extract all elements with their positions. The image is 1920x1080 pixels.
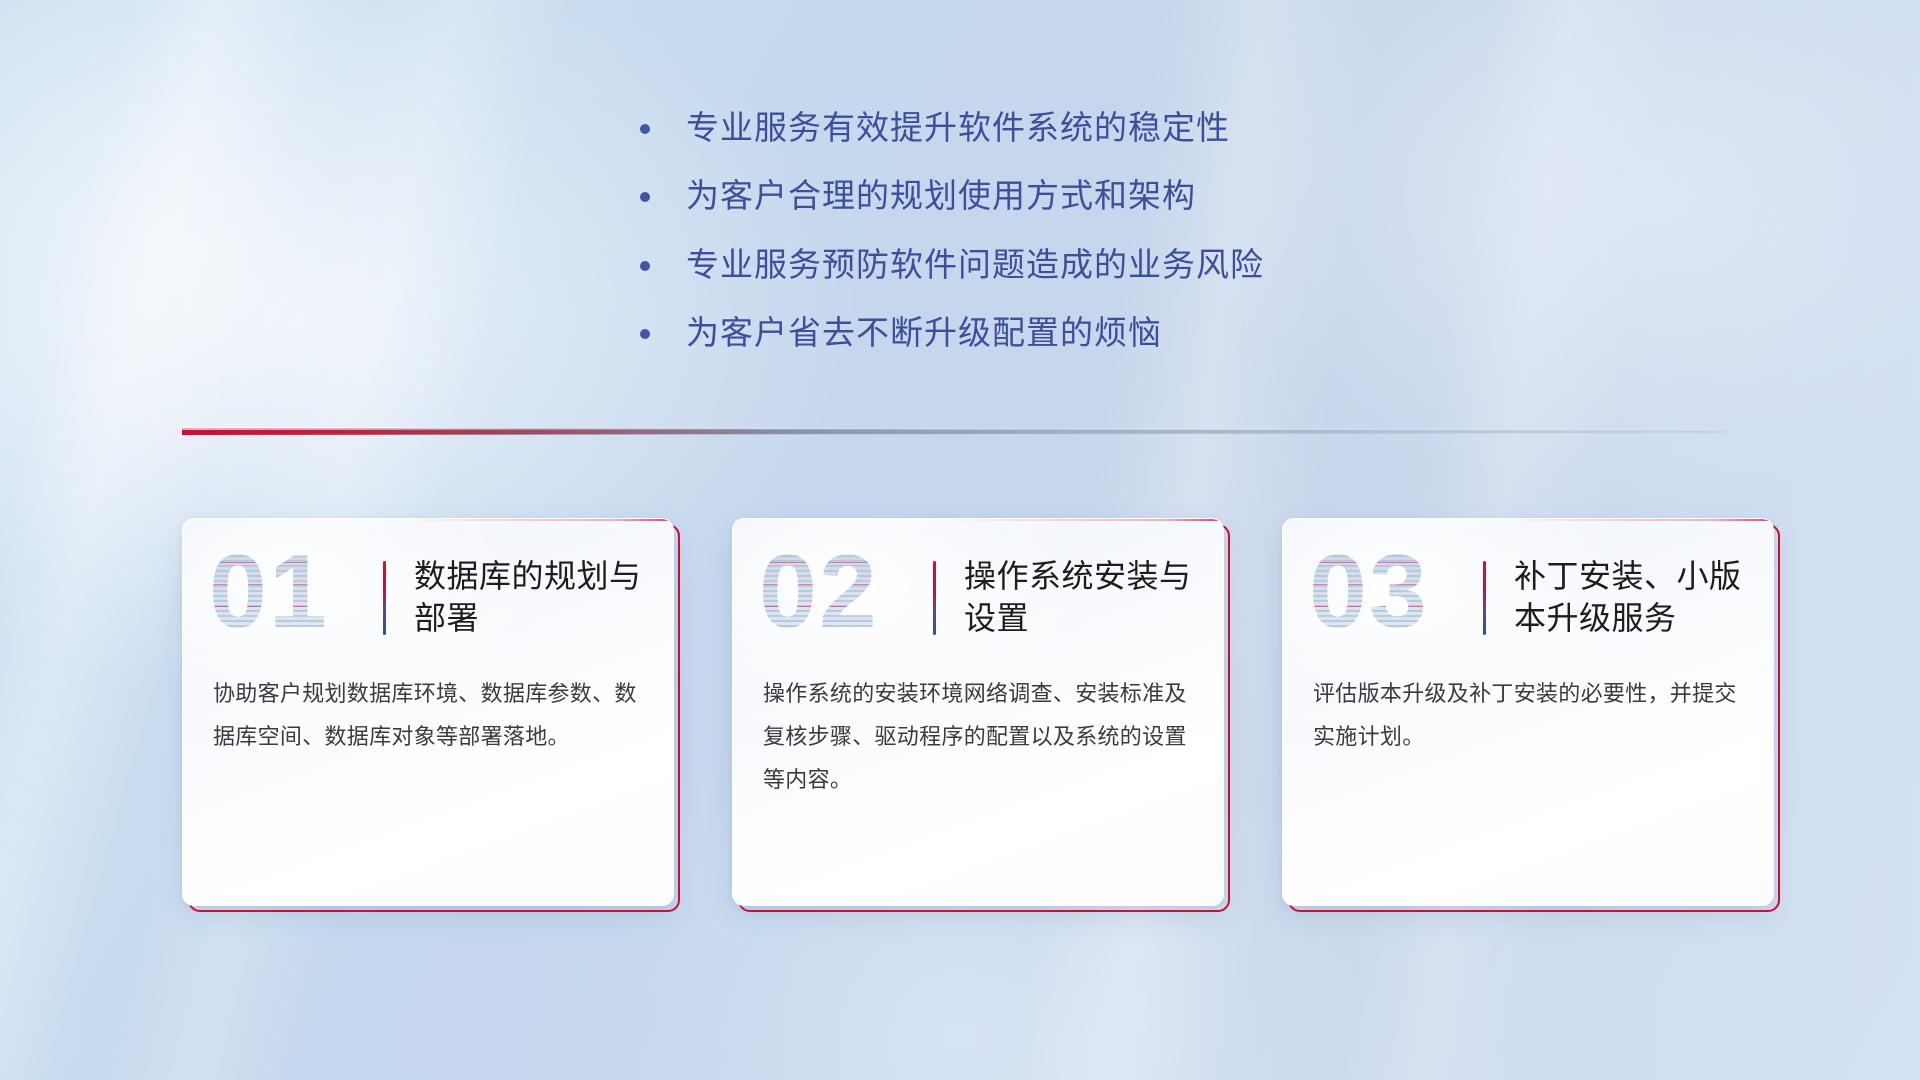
bullet-dot-icon (640, 124, 650, 134)
card-title-rule (933, 561, 936, 635)
service-card-02[interactable]: 02 02 操作系统安装与设置 操作系统的安装环境网络调查、安装标准及复核步骤、… (732, 518, 1224, 906)
divider-highlight (182, 427, 1727, 430)
card-number-watermark: 03 03 (1309, 546, 1477, 650)
card-title-rule (383, 561, 386, 635)
slide-canvas: 专业服务有效提升软件系统的稳定性 为客户合理的规划使用方式和架构 专业服务预防软… (0, 0, 1920, 1080)
card-number-watermark: 02 02 (759, 546, 927, 650)
bullet-dot-icon (640, 329, 650, 339)
benefits-bullet-list: 专业服务有效提升软件系统的稳定性 为客户合理的规划使用方式和架构 专业服务预防软… (640, 108, 1400, 381)
card-number-red-tint: 02 (759, 546, 879, 644)
card-surface: 03 03 补丁安装、小版本升级服务 评估版本升级及补丁安装的必要性，并提交实施… (1282, 518, 1774, 906)
bullet-item: 为客户省去不断升级配置的烦恼 (640, 313, 1400, 353)
card-body-text: 评估版本升级及补丁安装的必要性，并提交实施计划。 (1283, 647, 1773, 759)
bullet-item: 为客户合理的规划使用方式和架构 (640, 176, 1400, 216)
bullet-text: 专业服务有效提升软件系统的稳定性 (686, 108, 1230, 148)
service-card-row: 01 01 数据库的规划与部署 协助客户规划数据库环境、数据库参数、数据库空间、… (182, 518, 1774, 906)
bullet-text: 为客户省去不断升级配置的烦恼 (686, 313, 1162, 353)
card-number-watermark: 01 01 (209, 546, 377, 650)
card-header: 02 02 操作系统安装与设置 (733, 519, 1223, 647)
card-surface: 01 01 数据库的规划与部署 协助客户规划数据库环境、数据库参数、数据库空间、… (182, 518, 674, 906)
bullet-item: 专业服务有效提升软件系统的稳定性 (640, 108, 1400, 148)
bullet-item: 专业服务预防软件问题造成的业务风险 (640, 245, 1400, 285)
card-title-rule (1483, 561, 1486, 635)
card-body-text: 操作系统的安装环境网络调查、安装标准及复核步骤、驱动程序的配置以及系统的设置等内… (733, 647, 1223, 802)
service-card-03[interactable]: 03 03 补丁安装、小版本升级服务 评估版本升级及补丁安装的必要性，并提交实施… (1282, 518, 1774, 906)
card-body-text: 协助客户规划数据库环境、数据库参数、数据库空间、数据库对象等部署落地。 (183, 647, 673, 759)
card-header: 01 01 数据库的规划与部署 (183, 519, 673, 647)
card-header: 03 03 补丁安装、小版本升级服务 (1283, 519, 1773, 647)
card-title: 操作系统安装与设置 (964, 556, 1197, 639)
section-divider (182, 424, 1727, 440)
service-card-01[interactable]: 01 01 数据库的规划与部署 协助客户规划数据库环境、数据库参数、数据库空间、… (182, 518, 674, 906)
bullet-dot-icon (640, 192, 650, 202)
card-number-red-tint: 01 (209, 546, 329, 644)
bullet-dot-icon (640, 261, 650, 271)
bullet-text: 专业服务预防软件问题造成的业务风险 (686, 245, 1264, 285)
card-number-red-tint: 03 (1309, 546, 1429, 644)
card-title: 补丁安装、小版本升级服务 (1514, 556, 1747, 639)
bullet-text: 为客户合理的规划使用方式和架构 (686, 176, 1196, 216)
card-surface: 02 02 操作系统安装与设置 操作系统的安装环境网络调查、安装标准及复核步骤、… (732, 518, 1224, 906)
card-title: 数据库的规划与部署 (414, 556, 647, 639)
